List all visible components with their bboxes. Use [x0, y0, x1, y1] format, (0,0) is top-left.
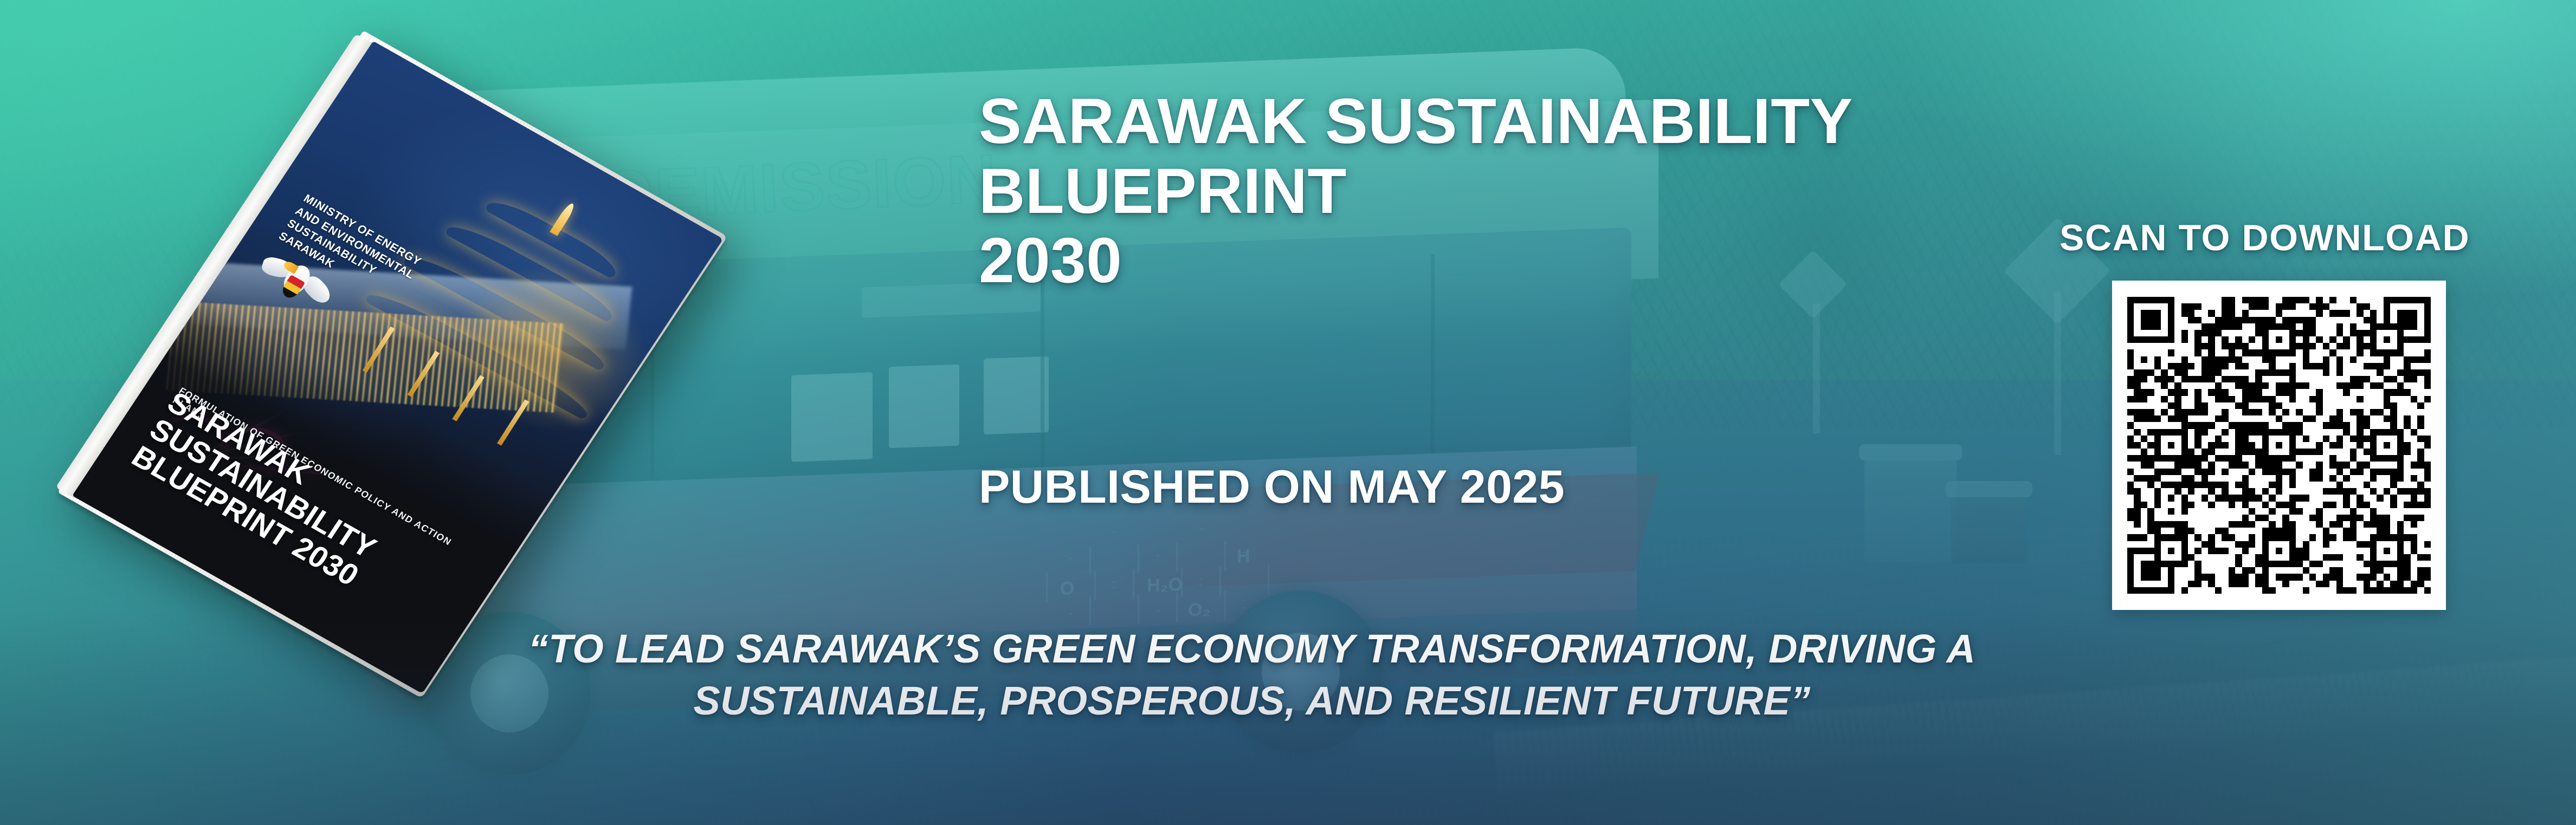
quote-line-1: “TO LEAD SARAWAK’S GREEN ECONOMY TRANSFO… [423, 623, 2081, 675]
book-3d: MINISTRY OF ENERGY AND ENVIRONMENTAL SUS… [70, 41, 732, 701]
vision-quote: “TO LEAD SARAWAK’S GREEN ECONOMY TRANSFO… [423, 623, 2081, 727]
scan-to-download-label: SCAN TO DOWNLOAD [2059, 217, 2470, 259]
quote-line-2: SUSTAINABLE, PROSPEROUS, AND RESILIENT F… [423, 675, 2081, 727]
page-title: SARAWAK SUSTAINABILITY BLUEPRINT 2030 [979, 87, 2171, 296]
published-date: PUBLISHED ON MAY 2025 [979, 460, 1565, 514]
headline-line-1: SARAWAK SUSTAINABILITY BLUEPRINT [979, 87, 2171, 226]
sarawak-blueprint-banner: ZEROEMISSION O H₂O H [0, 0, 2576, 825]
qr-code[interactable] [2112, 281, 2446, 610]
headline-line-2: 2030 [979, 226, 2171, 296]
book-cover: MINISTRY OF ENERGY AND ENVIRONMENTAL SUS… [72, 41, 723, 694]
book-mockup: MINISTRY OF ENERGY AND ENVIRONMENTAL SUS… [33, 33, 878, 693]
qr-code-modules [2127, 297, 2431, 594]
